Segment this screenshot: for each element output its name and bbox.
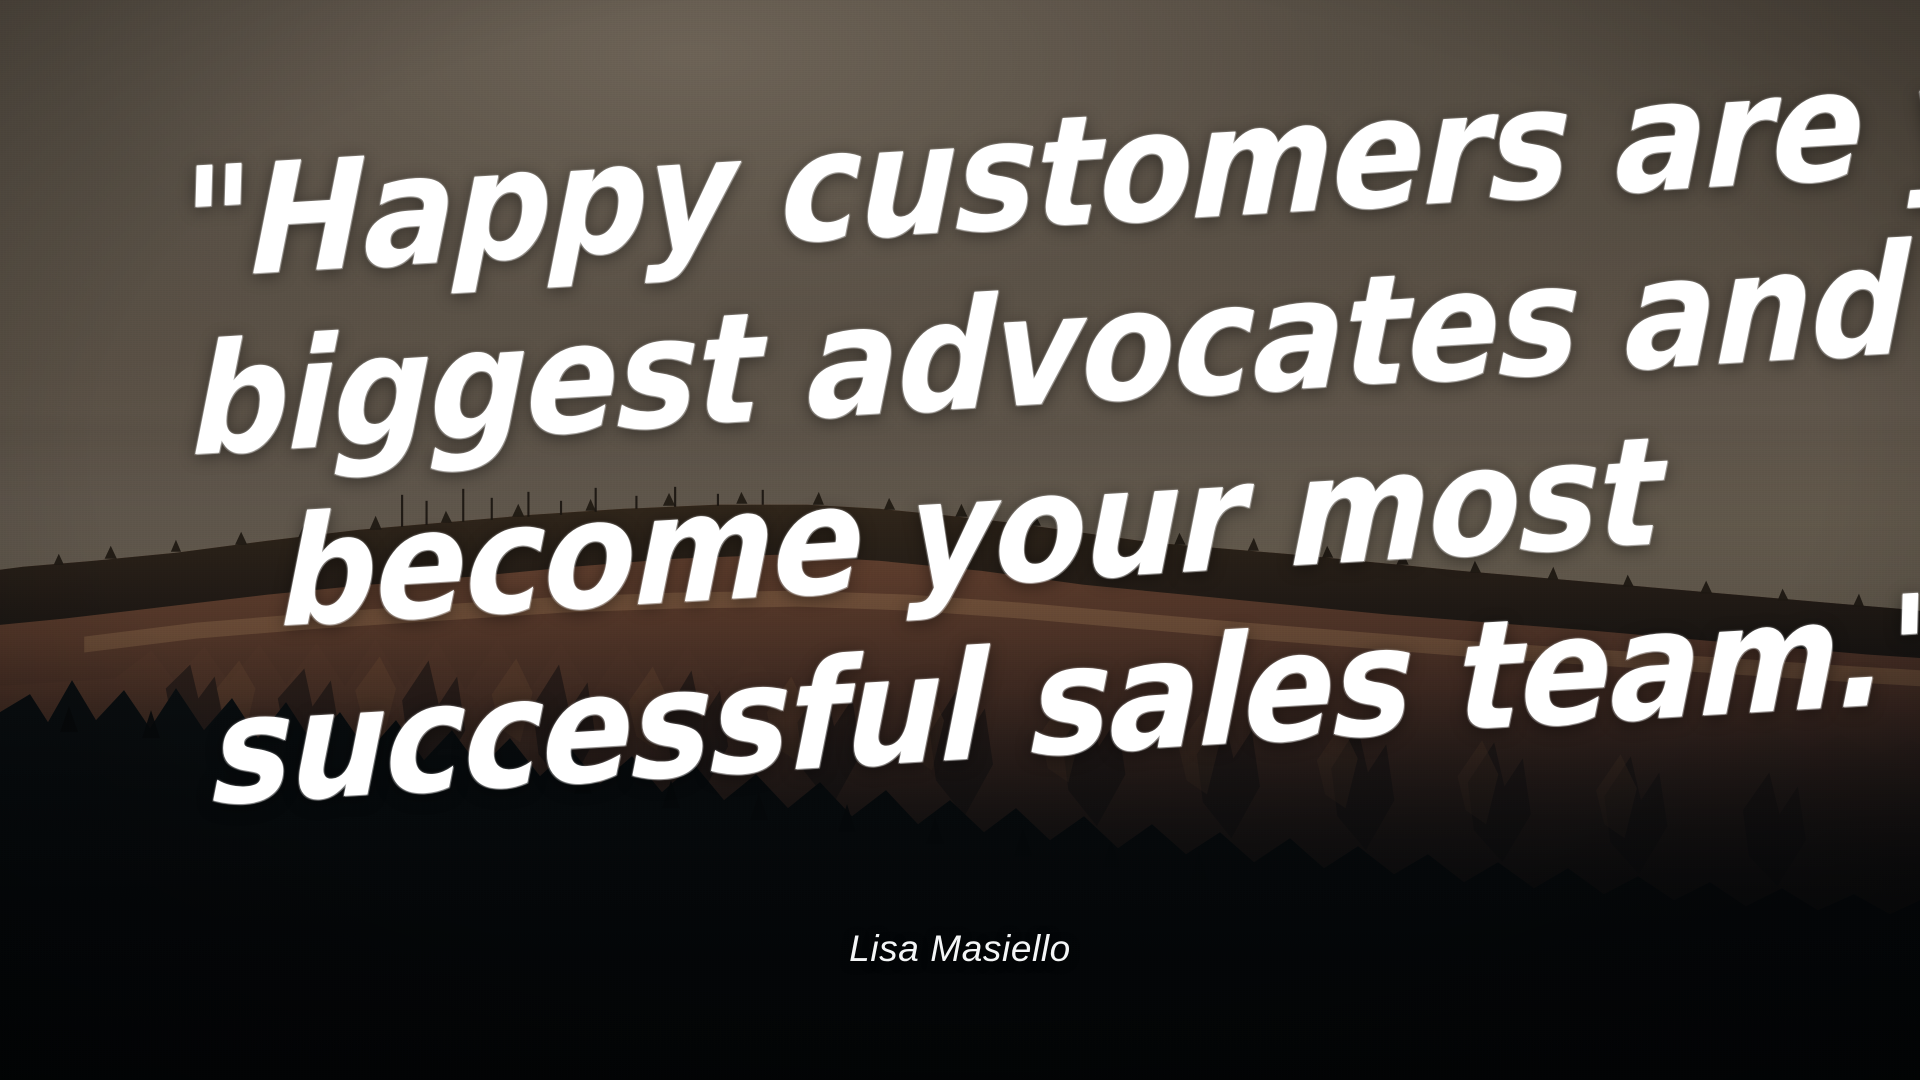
overlay-content: "Happy customers are your biggest advoca… [0,0,1920,1080]
quote-card: "Happy customers are your biggest advoca… [0,0,1920,1080]
quote-attribution: Lisa Masiello [0,928,1920,970]
quote-text: "Happy customers are your biggest advoca… [177,47,1756,839]
